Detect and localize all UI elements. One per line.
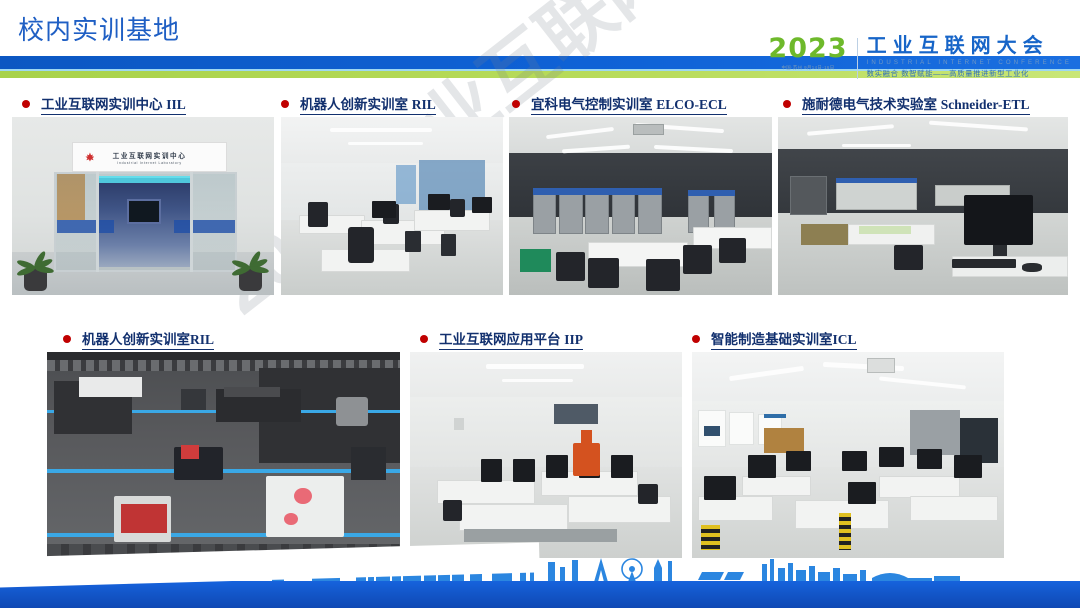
maple-leaf-icon	[85, 153, 94, 162]
caption-text: 宜科电气控制实训室 ELCO-ECL	[531, 93, 727, 115]
slide-root: 校内实训基地 2023 中国·苏州 9月14日-16日 工业互联网大会 INDU…	[0, 0, 1080, 608]
caption-row1-item4: 施耐德电气技术实验室 Schneider-ETL	[783, 93, 1030, 115]
bullet-dot-icon	[512, 100, 520, 108]
entrance-sign: 工业互联网实训中心 Industrial Internet Laboratory	[72, 142, 227, 172]
bullet-dot-icon	[692, 335, 700, 343]
caption-text: 工业互联网实训中心 IIL	[41, 93, 186, 115]
caption-row1-item2: 机器人创新实训室 RIL	[281, 93, 436, 115]
plant-right	[229, 217, 271, 292]
plant-left	[15, 217, 57, 292]
water-band	[0, 581, 1080, 608]
caption-text: 机器人创新实训室 RIL	[300, 93, 436, 115]
caption-row1-item1: 工业互联网实训中心 IIL	[22, 93, 186, 115]
slide-header: 校内实训基地 2023 中国·苏州 9月14日-16日 工业互联网大会 INDU…	[0, 0, 1080, 62]
photo-row2-item2	[410, 352, 682, 558]
caption-row2-item3: 智能制造基础实训室ICL	[692, 328, 857, 350]
photo-row1-item3	[509, 117, 772, 295]
bullet-dot-icon	[22, 100, 30, 108]
logo-date: 中国·苏州 9月14日-16日	[768, 65, 847, 71]
entrance-sign-cn: 工业互联网实训中心	[113, 150, 187, 160]
caption-row1-item3: 宜科电气控制实训室 ELCO-ECL	[512, 93, 727, 115]
caption-text: 智能制造基础实训室ICL	[711, 328, 857, 350]
logo-name-block: 工业互联网大会 INDUSTRIAL INTERNET CONFERENCE 数…	[858, 36, 1072, 79]
photo-row2-item1	[47, 352, 400, 558]
logo-name-cn: 工业互联网大会	[867, 36, 1072, 57]
photo-row1-item1: 工业互联网实训中心 Industrial Internet Laboratory	[12, 117, 274, 295]
entrance-sign-en: Industrial Internet Laboratory	[117, 161, 181, 165]
bullet-dot-icon	[281, 100, 289, 108]
photo-row1-item2	[281, 117, 503, 295]
logo-name-en: INDUSTRIAL INTERNET CONFERENCE	[867, 59, 1072, 66]
bullet-dot-icon	[63, 335, 71, 343]
slide-footer	[0, 556, 1080, 608]
logo-year: 2023	[768, 36, 847, 62]
conference-logo: 2023 中国·苏州 9月14日-16日 工业互联网大会 INDUSTRIAL …	[768, 36, 1072, 79]
bullet-dot-icon	[420, 335, 428, 343]
bullet-dot-icon	[783, 100, 791, 108]
page-title: 校内实训基地	[18, 10, 180, 47]
photo-row1-item4	[778, 117, 1068, 295]
photo-row2-item3	[692, 352, 1004, 558]
caption-text: 机器人创新实训室RIL	[82, 328, 214, 350]
logo-year-block: 2023 中国·苏州 9月14日-16日	[768, 36, 856, 71]
caption-text: 施耐德电气技术实验室 Schneider-ETL	[802, 93, 1030, 115]
logo-slogan: 数实融合 数智赋能——高质量推进新型工业化	[867, 68, 1072, 79]
caption-text: 工业互联网应用平台 IIP	[439, 328, 583, 350]
caption-row2-item2: 工业互联网应用平台 IIP	[420, 328, 583, 350]
caption-row2-item1: 机器人创新实训室RIL	[63, 328, 214, 350]
